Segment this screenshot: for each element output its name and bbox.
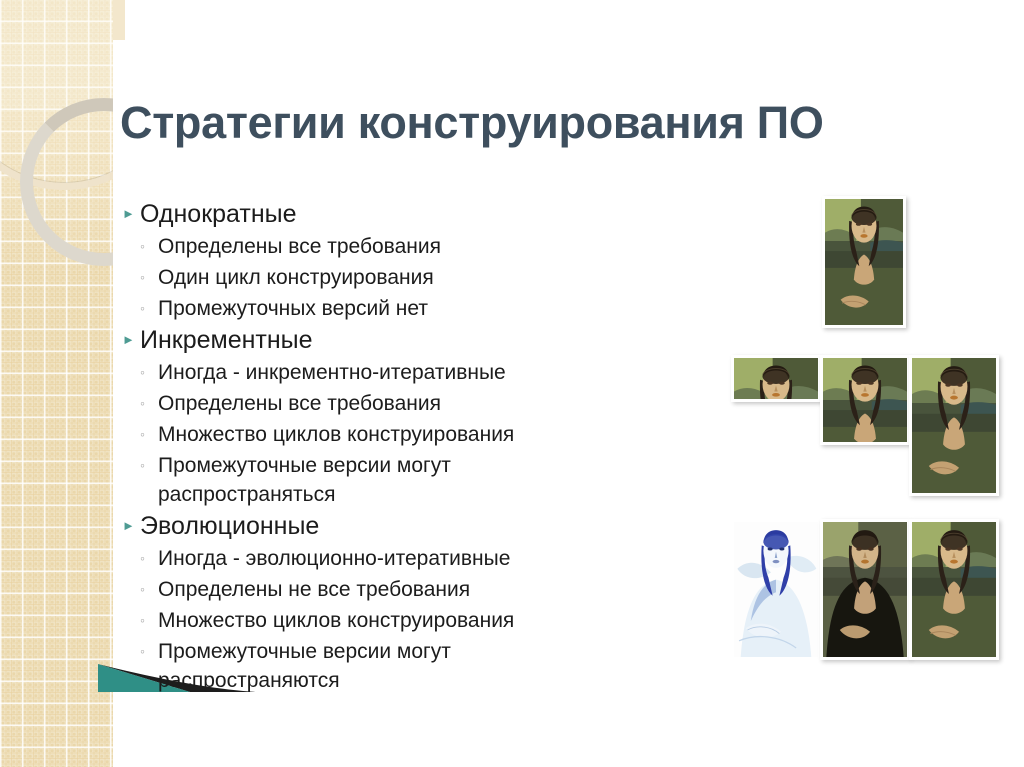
circle-bullet-icon: ◦ (118, 575, 158, 604)
bullet-group-evolyucionnye: ► Эволюционные ◦ Иногда - эволюционно-ит… (118, 511, 638, 695)
circle-bullet-icon: ◦ (118, 294, 158, 323)
bullet-subitem-label: Промежуточных версий нет (158, 294, 428, 323)
mona-lisa-image (912, 358, 996, 493)
circle-bullet-icon: ◦ (118, 358, 158, 387)
art-canvas (823, 358, 907, 442)
circle-bullet-icon: ◦ (118, 637, 158, 666)
art-canvas (823, 522, 907, 657)
mona-lisa-final (909, 519, 999, 660)
bullet-heading-3: ► Эволюционные (118, 511, 638, 541)
mona-lisa-image (823, 522, 907, 657)
bullet-subitem-label: Определены все требования (158, 389, 441, 418)
art-canvas (825, 199, 903, 325)
page-title: Стратегии конструирования ПО (120, 98, 950, 148)
bullet-subitem: ◦ Промежуточные версии могут распростран… (118, 637, 638, 695)
bullet-heading-label: Инкрементные (140, 325, 313, 355)
mona-lisa-image (734, 522, 818, 657)
bullet-heading-label: Эволюционные (140, 511, 319, 541)
bullet-subitem-label: Иногда - эволюционно-итеративные (158, 544, 510, 573)
circle-bullet-icon: ◦ (118, 389, 158, 418)
mona-lisa-image (912, 522, 996, 657)
mona-lisa-increment-3 (909, 355, 999, 496)
bullet-group-odnokratnye: ► Однократные ◦ Определены все требовани… (118, 199, 638, 323)
bullet-heading-label: Однократные (140, 199, 297, 229)
bullet-content: ► Однократные ◦ Определены все требовани… (118, 199, 638, 697)
circle-bullet-icon: ◦ (118, 420, 158, 449)
mona-lisa-complete (822, 196, 906, 328)
bullet-group-inkrementnye: ► Инкрементные ◦ Иногда - инкрементно-ит… (118, 325, 638, 509)
mona-lisa-partial-color (820, 519, 910, 660)
art-canvas (912, 358, 996, 493)
art-canvas (912, 522, 996, 657)
bullet-subitem: ◦ Определены все требования (118, 389, 638, 418)
triangle-bullet-icon: ► (118, 325, 140, 355)
bullet-subitem: ◦ Иногда - инкрементно-итеративные (118, 358, 638, 387)
mona-lisa-sketch (731, 519, 821, 660)
bullet-subitem: ◦ Определены все требования (118, 232, 638, 261)
bullet-subitem-label: Определены не все требования (158, 575, 470, 604)
bullet-subitem: ◦ Промежуточные версии могут распростран… (118, 451, 638, 509)
art-canvas (734, 522, 818, 657)
bullet-subitem-label: Множество циклов конструирования (158, 420, 514, 449)
circle-bullet-icon: ◦ (118, 544, 158, 573)
mona-lisa-increment-2 (820, 355, 910, 445)
mona-lisa-image (734, 358, 818, 399)
circle-bullet-icon: ◦ (118, 451, 158, 480)
bullet-subitem: ◦ Множество циклов конструирования (118, 420, 638, 449)
circle-bullet-icon: ◦ (118, 232, 158, 261)
bullet-subitem-label: Промежуточные версии могут распространят… (158, 451, 588, 509)
mona-lisa-image (823, 358, 907, 442)
bullet-heading-2: ► Инкрементные (118, 325, 638, 355)
bullet-subitem-label: Множество циклов конструирования (158, 606, 514, 635)
bullet-subitem-label: Определены все требования (158, 232, 441, 261)
circle-bullet-icon: ◦ (118, 263, 158, 292)
mona-lisa-image (825, 199, 903, 325)
bullet-subitem: ◦ Иногда - эволюционно-итеративные (118, 544, 638, 573)
art-canvas (734, 358, 818, 399)
bullet-subitem: ◦ Определены не все требования (118, 575, 638, 604)
bullet-subitem: ◦ Один цикл конструирования (118, 263, 638, 292)
bullet-subitem-label: Иногда - инкрементно-итеративные (158, 358, 506, 387)
slide: Стратегии конструирования ПО ► Однократн… (0, 0, 1024, 767)
triangle-bullet-icon: ► (118, 199, 140, 229)
bullet-subitem: ◦ Промежуточных версий нет (118, 294, 638, 323)
triangle-bullet-icon: ► (118, 511, 140, 541)
bullet-subitem: ◦ Множество циклов конструирования (118, 606, 638, 635)
bullet-subitem-label: Один цикл конструирования (158, 263, 434, 292)
bullet-heading-1: ► Однократные (118, 199, 638, 229)
circle-bullet-icon: ◦ (118, 606, 158, 635)
band-top-notch (113, 0, 125, 40)
bullet-subitem-label: Промежуточные версии могут распространяю… (158, 637, 588, 695)
mona-lisa-increment-1 (731, 355, 821, 402)
